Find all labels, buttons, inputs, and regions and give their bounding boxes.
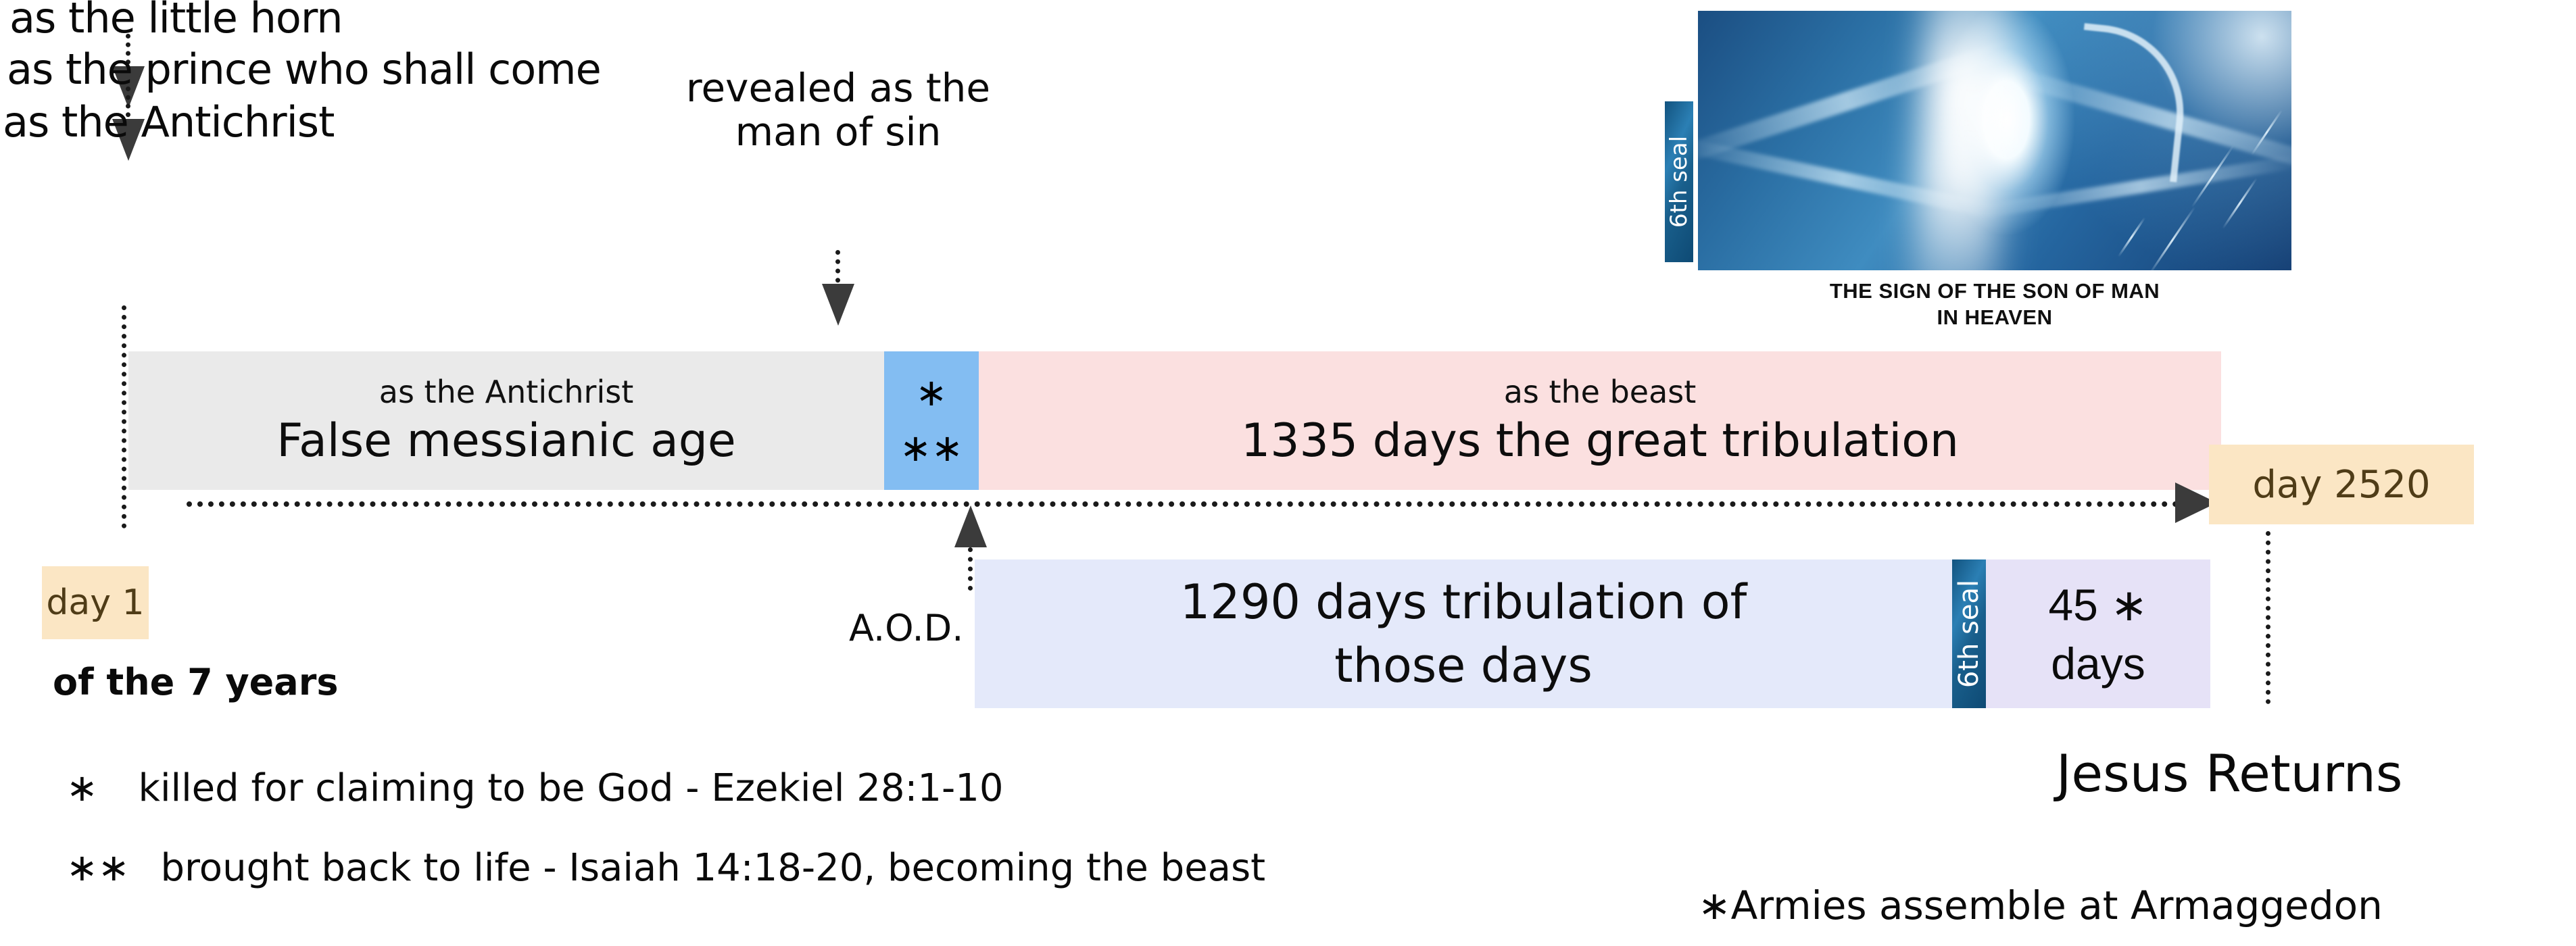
revealed-arrow-icon bbox=[822, 284, 854, 326]
day-2520-chip-label: day 2520 bbox=[2252, 463, 2430, 507]
jesus-returns-label: Jesus Returns bbox=[2056, 743, 2402, 803]
sixth-seal-tab-top: 6th seal bbox=[1665, 101, 1693, 262]
segment-death-resurrection: ∗ ∗∗ bbox=[884, 351, 979, 490]
segment-45-days-line-2: days bbox=[2051, 638, 2145, 689]
footnote-2: ∗∗ brought back to life - Isaiah 14:18-2… bbox=[66, 846, 1265, 890]
picture-caption-line-1: THE SIGN OF THE SON OF MAN bbox=[1698, 278, 2291, 305]
footnote-2-marker: ∗∗ bbox=[66, 846, 130, 890]
segment-false-messianic-age-sublabel: as the Antichrist bbox=[379, 374, 633, 410]
segment-1290-days-line-1: 1290 days tribulation of bbox=[1180, 574, 1747, 630]
footnote-1-text: killed for claiming to be God - Ezekiel … bbox=[139, 766, 1004, 810]
armageddon-note: ∗Armies assemble at Armaggedon bbox=[1698, 882, 2383, 928]
segment-1290-days-line-2: those days bbox=[1334, 638, 1593, 693]
segment-tribulation-of-those-days: 1290 days tribulation of those days bbox=[975, 559, 1952, 708]
cascade-label-little-horn: as the little horn bbox=[9, 0, 343, 39]
revealed-line-2: man of sin bbox=[669, 110, 1007, 154]
aod-arrow-icon bbox=[954, 505, 987, 547]
sixth-seal-tab-bottom-label: 6th seal bbox=[1953, 580, 1985, 688]
seven-years-label: of the 7 years bbox=[53, 661, 338, 703]
prophetic-timeline-diagram: as the little horn as the prince who sha… bbox=[0, 0, 2576, 946]
picture-caption: THE SIGN OF THE SON OF MAN IN HEAVEN bbox=[1698, 278, 2291, 331]
sixth-seal-tab-top-label: 6th seal bbox=[1666, 136, 1693, 228]
segment-great-tribulation-label: 1335 days the great tribulation bbox=[1241, 414, 1959, 468]
segment-45-days-line-1: 45 ∗ bbox=[2048, 579, 2147, 631]
segment-great-tribulation-sublabel: as the beast bbox=[1504, 374, 1697, 410]
day-1-vertical-guide bbox=[122, 305, 126, 528]
sign-of-son-of-man-image bbox=[1698, 11, 2291, 270]
aod-connector bbox=[968, 547, 973, 591]
footnote-1-marker: ∗ bbox=[66, 766, 98, 810]
cascade-label-prince: as the prince who shall come bbox=[7, 49, 601, 91]
cascade-label-antichrist: as the Antichrist bbox=[3, 101, 334, 143]
footnote-2-text: brought back to life - Isaiah 14:18-20, … bbox=[160, 846, 1265, 890]
resurrection-star-marker: ∗∗ bbox=[900, 421, 963, 476]
day-2520-vertical-guide bbox=[2266, 531, 2270, 704]
day-1-chip-label: day 1 bbox=[46, 582, 144, 623]
footnote-1: ∗ killed for claiming to be God - Ezekie… bbox=[66, 766, 1004, 810]
day-1-chip: day 1 bbox=[42, 566, 149, 639]
death-star-marker: ∗ bbox=[900, 366, 963, 420]
picture-caption-line-2: IN HEAVEN bbox=[1698, 305, 2291, 331]
segment-false-messianic-age: as the Antichrist False messianic age bbox=[128, 351, 884, 490]
revealed-as-man-of-sin-callout: revealed as the man of sin bbox=[669, 66, 1007, 154]
segment-great-tribulation: as the beast 1335 days the great tribula… bbox=[979, 351, 2221, 490]
main-timeline-axis bbox=[187, 501, 2190, 507]
day-2520-chip: day 2520 bbox=[2209, 445, 2474, 524]
sixth-seal-tab-bottom: 6th seal bbox=[1952, 559, 1986, 708]
revealed-line-1: revealed as the bbox=[669, 66, 1007, 110]
segment-false-messianic-age-label: False messianic age bbox=[276, 414, 735, 468]
segment-45-days: 45 ∗ days bbox=[1986, 559, 2210, 708]
